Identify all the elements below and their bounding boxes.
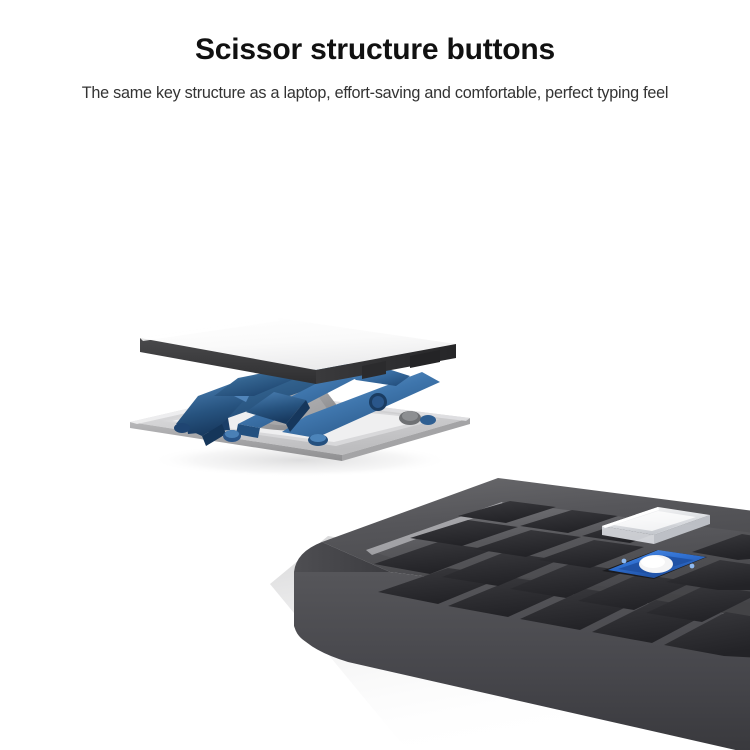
page-subtitle: The same key structure as a laptop, effo… [0, 84, 750, 103]
product-feature-image: Scissor structure buttons The same key s… [0, 0, 750, 750]
scissor-hinge-front-left [223, 430, 241, 442]
scissor-hinge-left-base [174, 423, 190, 433]
scissor-hinge-right-base [399, 411, 436, 425]
scissor-switch-diagram [110, 300, 480, 490]
keycap [140, 318, 456, 384]
page-title: Scissor structure buttons [0, 33, 750, 67]
keyboard-photo [262, 476, 750, 750]
scissor-hinge-front-right [308, 434, 328, 446]
